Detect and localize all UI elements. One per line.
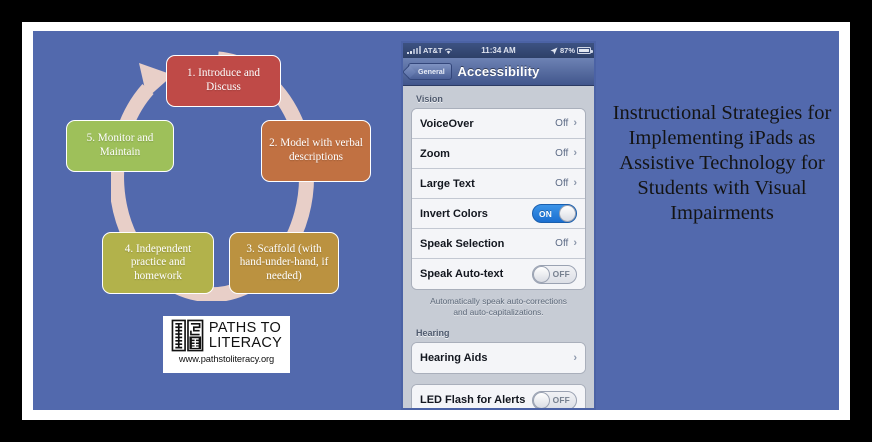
cycle-node-5[interactable]: 5. Monitor and Maintain (66, 120, 174, 172)
row-voiceover[interactable]: VoiceOver Off › (412, 109, 585, 139)
toggle-invert-colors-state: ON (539, 209, 552, 219)
toggle-knob (559, 205, 576, 222)
slide-frame: 1. Introduce and Discuss 2. Model with v… (0, 0, 872, 442)
chevron-right-icon: › (573, 178, 577, 189)
row-hearing-aids-label: Hearing Aids (420, 352, 573, 364)
footnote-speak-auto-text: Automatically speak auto-corrections and… (411, 290, 586, 320)
row-led-flash-for-alerts[interactable]: LED Flash for Alerts OFF (412, 385, 585, 410)
logo-top-row: PATHS TO LITERACY (171, 319, 282, 352)
settings-group-led: LED Flash for Alerts OFF (411, 384, 586, 410)
back-button-general[interactable]: General (408, 63, 452, 80)
cycle-node-2[interactable]: 2. Model with verbal descriptions (261, 120, 371, 182)
row-large-text[interactable]: Large Text Off › (412, 169, 585, 199)
slide-canvas: 1. Introduce and Discuss 2. Model with v… (33, 31, 839, 410)
status-bar-right: 87% (550, 46, 591, 55)
settings-group-vision: VoiceOver Off › Zoom Off › Large Text Of… (411, 108, 586, 290)
chevron-right-icon: › (573, 238, 577, 249)
paths-to-literacy-logo: PATHS TO LITERACY www.pathstoliteracy.or… (163, 316, 290, 373)
settings-group-hearing: Hearing Aids › (411, 342, 586, 374)
cycle-node-5-label: 5. Monitor and Maintain (72, 132, 168, 159)
row-zoom-value: Off (555, 148, 568, 159)
location-arrow-icon (550, 47, 558, 55)
chevron-right-icon: › (573, 118, 577, 129)
cycle-node-3-label: 3. Scaffold (with hand-under-hand, if ne… (235, 243, 333, 284)
battery-percent-label: 87% (560, 46, 575, 55)
row-invert-colors-label: Invert Colors (420, 208, 532, 220)
toggle-knob (533, 392, 550, 409)
cycle-node-4-label: 4. Independent practice and homework (108, 243, 208, 284)
toggle-led-flash-state: OFF (553, 395, 570, 405)
row-voiceover-label: VoiceOver (420, 118, 555, 130)
toggle-invert-colors[interactable]: ON (532, 204, 577, 223)
logo-wordmark: PATHS TO LITERACY (209, 321, 282, 351)
section-header-hearing: Hearing (411, 320, 586, 342)
iphone-screenshot: AT&T 11:34 AM 87% General (401, 41, 596, 410)
chevron-right-icon: › (573, 353, 577, 364)
logo-url[interactable]: www.pathstoliteracy.org (179, 354, 274, 364)
settings-scroll-area[interactable]: Vision VoiceOver Off › Zoom Off › Large … (403, 86, 594, 410)
logo-line-2: LITERACY (209, 336, 282, 351)
row-speak-auto-text[interactable]: Speak Auto-text OFF (412, 259, 585, 289)
toggle-led-flash[interactable]: OFF (532, 391, 577, 410)
back-button-label: General (418, 67, 445, 76)
cycle-node-3[interactable]: 3. Scaffold (with hand-under-hand, if ne… (229, 232, 339, 294)
row-speak-auto-text-label: Speak Auto-text (420, 268, 532, 280)
battery-icon (577, 47, 591, 54)
cycle-node-1[interactable]: 1. Introduce and Discuss (166, 55, 281, 107)
toggle-speak-auto-text-state: OFF (553, 269, 570, 279)
row-invert-colors[interactable]: Invert Colors ON (412, 199, 585, 229)
row-hearing-aids[interactable]: Hearing Aids › (412, 343, 585, 373)
chevron-right-icon: › (573, 148, 577, 159)
row-large-text-label: Large Text (420, 178, 555, 190)
toggle-speak-auto-text[interactable]: OFF (532, 265, 577, 284)
cycle-node-1-label: 1. Introduce and Discuss (172, 67, 275, 94)
logo-line-1: PATHS TO (209, 321, 282, 336)
cycle-node-4[interactable]: 4. Independent practice and homework (102, 232, 214, 294)
maze-logo-icon (171, 319, 204, 352)
row-zoom-label: Zoom (420, 148, 555, 160)
row-zoom[interactable]: Zoom Off › (412, 139, 585, 169)
row-speak-selection[interactable]: Speak Selection Off › (412, 229, 585, 259)
cycle-node-2-label: 2. Model with verbal descriptions (267, 137, 365, 164)
row-speak-selection-label: Speak Selection (420, 238, 555, 250)
row-led-flash-label: LED Flash for Alerts (420, 394, 532, 406)
slide-title: Instructional Strategies for Implementin… (611, 101, 833, 226)
status-bar: AT&T 11:34 AM 87% (403, 43, 594, 58)
row-voiceover-value: Off (555, 118, 568, 129)
section-header-vision: Vision (411, 86, 586, 108)
row-speak-selection-value: Off (555, 238, 568, 249)
toggle-knob (533, 266, 550, 283)
nav-bar: General Accessibility (403, 58, 594, 86)
row-large-text-value: Off (555, 178, 568, 189)
